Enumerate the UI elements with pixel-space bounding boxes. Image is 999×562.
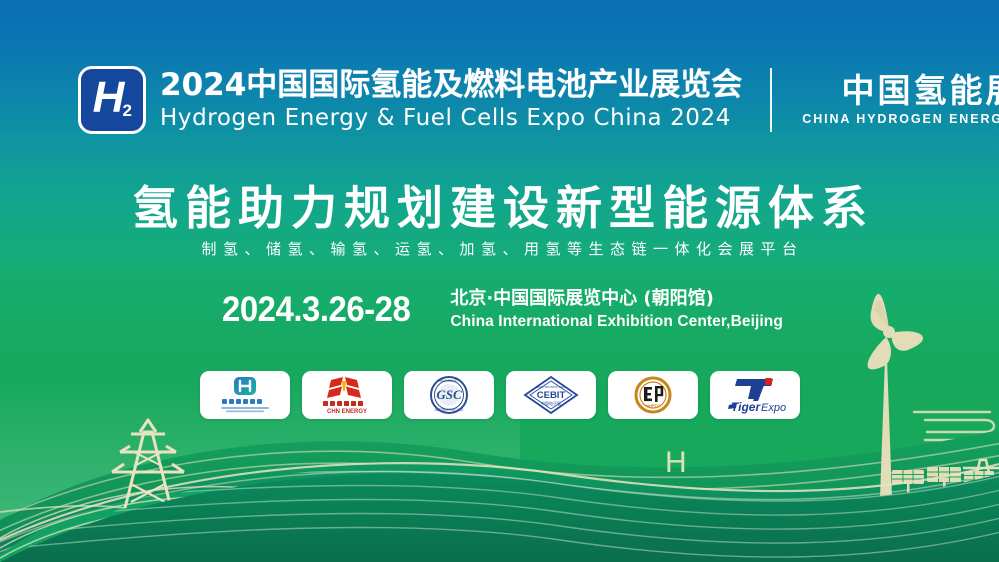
expo-title-en: Hydrogen Energy & Fuel Cells Expo China … [160,105,742,131]
cloud-lines [283,520,400,540]
hill-mid-lines [0,470,999,562]
hill-back-lines [0,440,999,562]
hill-left-lines [0,487,478,562]
power-line [0,506,282,522]
venue-name-en: China International Exhibition Center,Be… [450,313,783,332]
poster-canvas: H 2 2024中国国际氢能及燃料电池产业展览会 Hydrogen Energy… [0,0,999,562]
event-venue: 北京·中国国际展览中心 (朝阳馆) China International Ex… [450,288,783,331]
sponsor-logo-nhptc[interactable]: NHPTC [608,371,698,419]
sub-headline: 制氢、储氢、输氢、运氢、加氢、用氢等生态链一体化会展平台 [0,238,999,259]
hill-mid [0,462,999,562]
sponsor-logo-china-hydrogen-alliance[interactable] [200,371,290,419]
h2-logo-letter: H [93,76,124,120]
power-tower-right [958,460,999,512]
event-date: 2024.3.26-28 [222,292,410,327]
svg-text:CEBIT: CEBIT [536,390,565,401]
svg-text:Expo: Expo [761,402,786,414]
hill-left [0,491,470,562]
svg-text:AUTOMOTIVE ENG: AUTOMOTIVE ENG [434,408,463,412]
solar-panels [892,467,994,498]
power-tower [112,420,184,508]
h2-logo-icon: H 2 [78,66,146,134]
expo-title-block: 2024中国国际氢能及燃料电池产业展览会 Hydrogen Energy & F… [160,69,742,131]
svg-text:GSC: GSC [436,387,462,402]
svg-text:NHPTC: NHPTC [646,403,660,408]
svg-text:中国电子展: 中国电子展 [541,400,561,406]
brand-name-cn: 中国氢能展 [842,74,999,109]
expo-title-cn: 2024中国国际氢能及燃料电池产业展览会 [160,69,742,102]
svg-text:ELECTRONICS FAIR: ELECTRONICS FAIR [536,385,566,389]
sponsor-logo-chn-energy[interactable]: CHN ENERGY [302,371,392,419]
header-lockup: H 2 2024中国国际氢能及燃料电池产业展览会 Hydrogen Energy… [78,66,999,134]
wind-swirl-left [285,525,360,542]
main-headline: 氢能助力规划建设新型能源体系 [0,172,999,238]
sponsor-logo-row: CHN ENERGY GSC CHINA SOCIETY AUTOMOTIVE … [0,371,999,419]
hill-front-lines [0,471,999,557]
brand-block: 中国氢能展 CHINA HYDROGEN ENERGY EXPO [802,74,999,126]
date-venue-bar: 2024.3.26-28 北京·中国国际展览中心 (朝阳馆) China Int… [0,288,999,331]
title-divider [770,68,772,132]
hill-back [0,430,999,562]
venue-name-cn: 北京·中国国际展览中心 (朝阳馆) [450,288,783,311]
h2-logo-subscript: 2 [123,102,132,119]
hydrogen-watermark-letter: H [665,446,687,480]
ridge-line [0,463,999,540]
cloud-lines-mid [283,524,905,525]
hill-front [0,473,999,562]
sponsor-logo-tigerexpo[interactable]: Tiger Expo [710,371,800,419]
svg-text:CHINA SOCIETY: CHINA SOCIETY [436,379,461,383]
sponsor-logo-cebit[interactable]: CEBIT 中国电子展 ELECTRONICS FAIR [506,371,596,419]
sponsor-logo-sae-china[interactable]: GSC CHINA SOCIETY AUTOMOTIVE ENG [404,371,494,419]
brand-name-en: CHINA HYDROGEN ENERGY EXPO [802,112,999,126]
svg-text:CHN ENERGY: CHN ENERGY [326,409,366,415]
